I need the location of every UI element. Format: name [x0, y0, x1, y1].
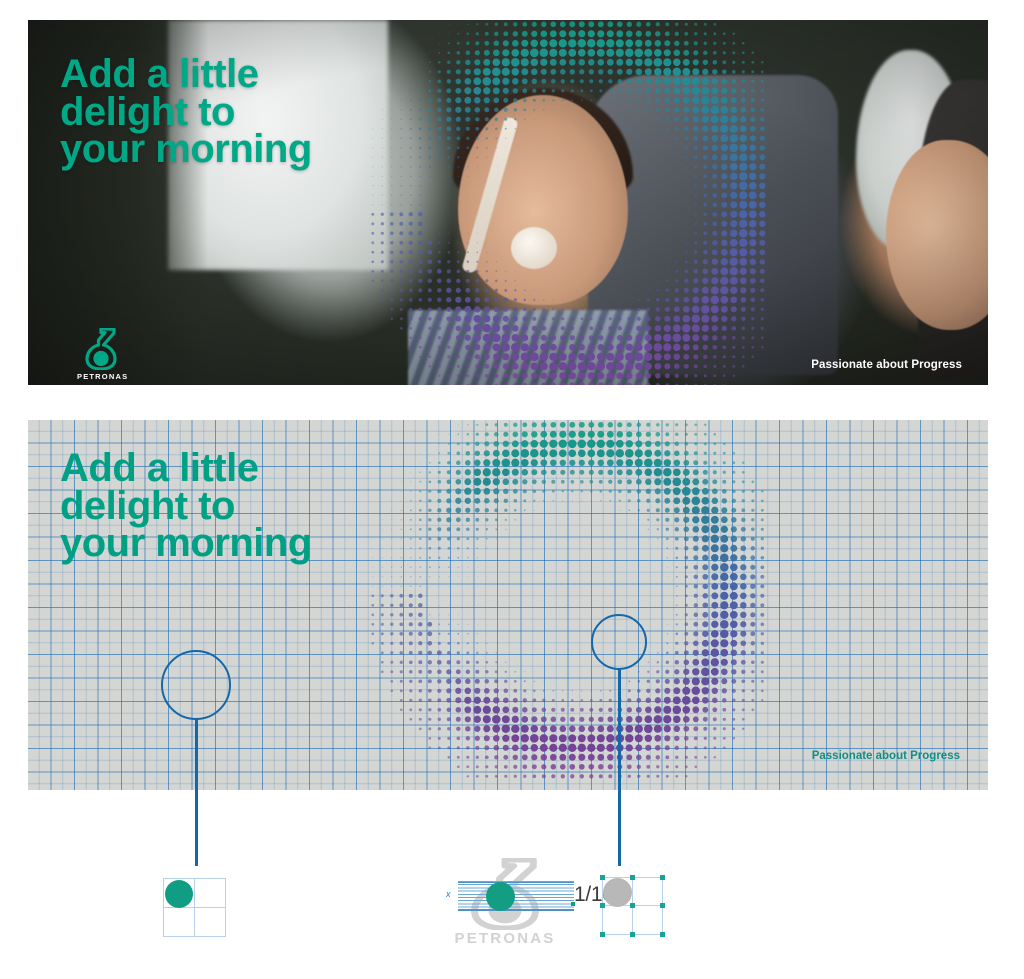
logo-dot-sample — [165, 880, 193, 908]
halftone-dot-sample — [603, 878, 632, 907]
callout-leader-left — [195, 718, 198, 866]
swatch-cell — [602, 905, 633, 935]
petronas-logo-photo: PETRONAS — [84, 328, 125, 381]
dot-size-spec: PETRONAS x 1/10x — [440, 858, 590, 958]
petronas-wordmark: PETRONAS — [77, 372, 125, 381]
grid-headline: Add a little delight to your morning — [60, 450, 312, 563]
callout-circle-right — [591, 614, 647, 670]
photo-tagline: Passionate about Progress — [811, 359, 962, 371]
anchor-point — [630, 903, 635, 908]
swatch-cell — [632, 877, 663, 907]
petronas-wordmark-ghost: PETRONAS — [440, 930, 570, 947]
anchor-point — [660, 903, 665, 908]
ruler-stripes — [458, 881, 574, 909]
anchor-point — [600, 875, 605, 880]
anchor-point — [600, 932, 605, 937]
swatch-cell — [194, 907, 226, 937]
anchor-point — [630, 875, 635, 880]
photo-headline: Add a little delight to your morning — [60, 56, 312, 169]
logo-dot-sample — [486, 882, 515, 911]
x-dimension-label: x — [446, 889, 451, 899]
swatch-cell — [163, 907, 195, 937]
swatch-cell — [632, 905, 663, 935]
anchor-point — [600, 903, 605, 908]
callout-circle-left — [161, 650, 231, 720]
petronas-droplet-icon — [84, 328, 118, 370]
anchor-point — [660, 875, 665, 880]
photo-ad-panel: Add a little delight to your morning PET… — [28, 20, 988, 385]
callout-leader-right — [618, 668, 621, 866]
ruler-bottom-rule — [458, 909, 574, 911]
swatch-cell — [194, 878, 226, 908]
grid-tagline: Passionate about Progress — [812, 750, 960, 762]
anchor-point — [660, 932, 665, 937]
anchor-point — [630, 932, 635, 937]
grid-spec-panel: Add a little delight to your morning PET… — [28, 420, 988, 790]
